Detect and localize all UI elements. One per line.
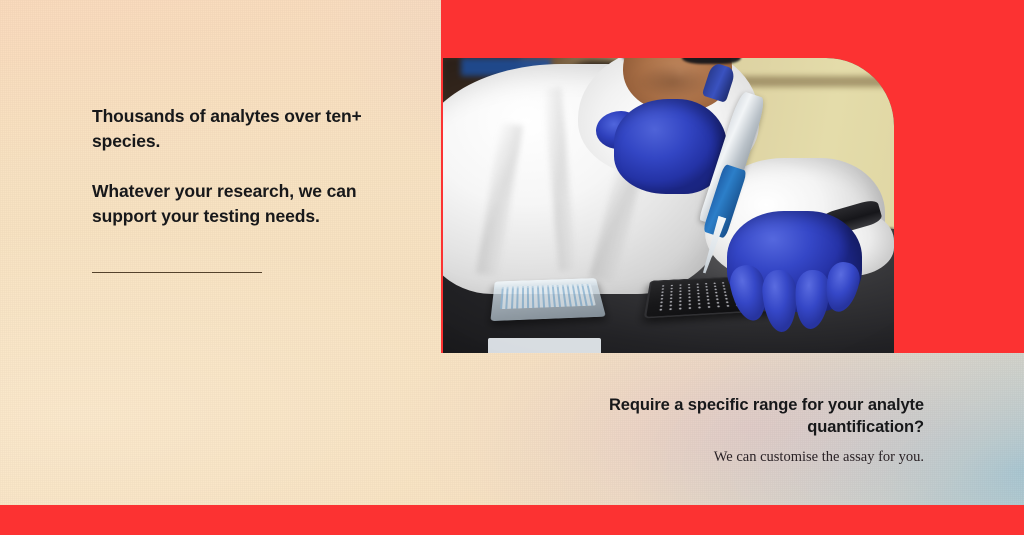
photo-vignette [443, 58, 894, 353]
banner-canvas: Thousands of analytes over ten+ species.… [0, 0, 1024, 535]
headline-primary: Thousands of analytes over ten+ species. [92, 104, 392, 154]
left-copy-block: Thousands of analytes over ten+ species.… [92, 104, 392, 229]
question-note: We can customise the assay for you. [504, 448, 924, 466]
right-copy-block: Require a specific range for your analyt… [504, 394, 924, 466]
lab-technician-photo [443, 58, 894, 353]
question-heading: Require a specific range for your analyt… [504, 394, 924, 438]
bottom-accent-bar [0, 505, 1024, 535]
headline-secondary: Whatever your research, we can support y… [92, 179, 392, 229]
divider-rule [92, 272, 262, 273]
photo-composition [443, 58, 894, 353]
